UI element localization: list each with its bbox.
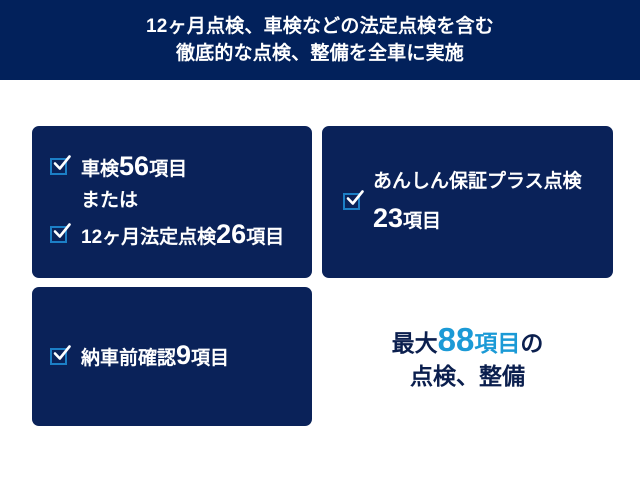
check-mark-icon xyxy=(52,222,72,242)
list-item-suffix: 項目 xyxy=(149,159,187,182)
warranty-count-text: 23項目 xyxy=(373,205,582,234)
list-item-label: 12ヶ月法定点検 xyxy=(81,227,216,250)
checkbox-checked-icon xyxy=(50,225,70,245)
card-anshin-warranty-plus-text: あんしん保証プラス点検 23項目 xyxy=(373,171,582,234)
list-item-suffix: 項目 xyxy=(246,227,284,250)
list-item-label: または xyxy=(81,190,138,213)
check-mark-icon xyxy=(52,154,72,174)
card-pre-delivery-check: 納車前確認9項目 xyxy=(32,287,312,426)
checkbox-checked-icon xyxy=(50,347,70,367)
list-item-or: または xyxy=(50,188,284,214)
list-item-number: 56 xyxy=(119,153,149,180)
warranty-number: 23 xyxy=(373,205,403,232)
header-title-line-1: 12ヶ月点検、車検などの法定点検を含む xyxy=(146,13,494,40)
list-item-text: 車検56項目 xyxy=(81,153,187,182)
pre-delivery-suffix: 項目 xyxy=(191,348,229,371)
summary-total-items: 最大88項目の 点検、整備 xyxy=(322,287,613,426)
header-banner: 12ヶ月点検、車検などの法定点検を含む 徹底的な点検、整備を全車に実施 xyxy=(0,0,640,80)
pre-delivery-label: 納車前確認 xyxy=(81,348,176,371)
card-anshin-warranty-plus-content: あんしん保証プラス点検 23項目 xyxy=(343,126,603,278)
summary-line-2: 点検、整備 xyxy=(410,363,525,391)
card-inspection-items: 車検56項目 または 12ヶ月法定点検26項目 xyxy=(32,126,312,278)
list-item-label: 車検 xyxy=(81,159,119,182)
checkbox-checked-icon xyxy=(343,192,363,212)
list-item: 12ヶ月法定点検26項目 xyxy=(50,222,284,248)
summary-prefix: 最大 xyxy=(392,330,438,358)
card-anshin-warranty-plus: あんしん保証プラス点検 23項目 xyxy=(322,126,613,278)
list-item-number: 26 xyxy=(216,221,246,248)
checkbox-checked-icon xyxy=(50,157,70,177)
pre-delivery-number: 9 xyxy=(176,342,191,369)
summary-particle: の xyxy=(520,330,543,358)
pre-delivery-text: 納車前確認9項目 xyxy=(81,342,229,371)
summary-unit: 項目 xyxy=(474,330,520,358)
card-pre-delivery-check-content: 納車前確認9項目 xyxy=(50,287,229,426)
summary-line-1: 最大88項目の xyxy=(392,323,544,358)
check-mark-icon xyxy=(345,189,365,209)
summary-number: 88 xyxy=(438,323,475,356)
list-item: 車検56項目 xyxy=(50,154,284,180)
list-item-text: 12ヶ月法定点検26項目 xyxy=(81,221,284,250)
card-inspection-items-rows: 車検56項目 または 12ヶ月法定点検26項目 xyxy=(50,154,284,248)
warranty-suffix: 項目 xyxy=(403,211,441,234)
warranty-title: あんしん保証プラス点検 xyxy=(373,171,582,194)
check-mark-icon xyxy=(52,344,72,364)
header-title-line-2: 徹底的な点検、整備を全車に実施 xyxy=(176,40,464,67)
